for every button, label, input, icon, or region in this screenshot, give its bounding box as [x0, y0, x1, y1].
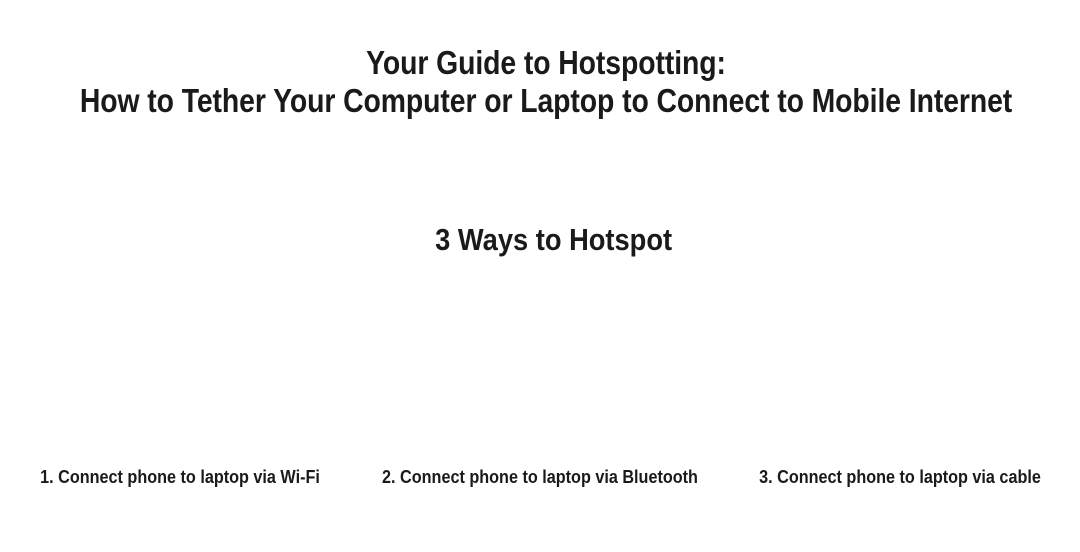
page-title: Your Guide to Hotspotting: How to Tether…	[0, 44, 1080, 120]
method-item-1: 1. Connect phone to laptop via Wi-Fi	[0, 272, 360, 522]
bluetooth-illustration	[360, 272, 720, 466]
section-heading-text: 3 Ways to Hotspot	[436, 222, 673, 258]
methods-list: 1. Connect phone to laptop via Wi-Fi 2. …	[0, 272, 1080, 522]
method-caption-3: 3. Connect phone to laptop via cable	[738, 466, 1062, 522]
page-title-line-1: Your Guide to Hotspotting:	[76, 44, 1015, 82]
method-caption-1: 1. Connect phone to laptop via Wi-Fi	[18, 466, 342, 522]
method-item-3: 3. Connect phone to laptop via cable	[720, 272, 1080, 522]
page-title-line-2: How to Tether Your Computer or Laptop to…	[76, 82, 1015, 120]
cable-illustration	[720, 272, 1080, 466]
section-heading: 3 Ways to Hotspot	[0, 222, 1080, 258]
article-page: Your Guide to Hotspotting: How to Tether…	[0, 0, 1080, 552]
method-caption-2: 2. Connect phone to laptop via Bluetooth	[378, 466, 702, 522]
wifi-illustration	[0, 272, 360, 466]
method-item-2: 2. Connect phone to laptop via Bluetooth	[360, 272, 720, 522]
